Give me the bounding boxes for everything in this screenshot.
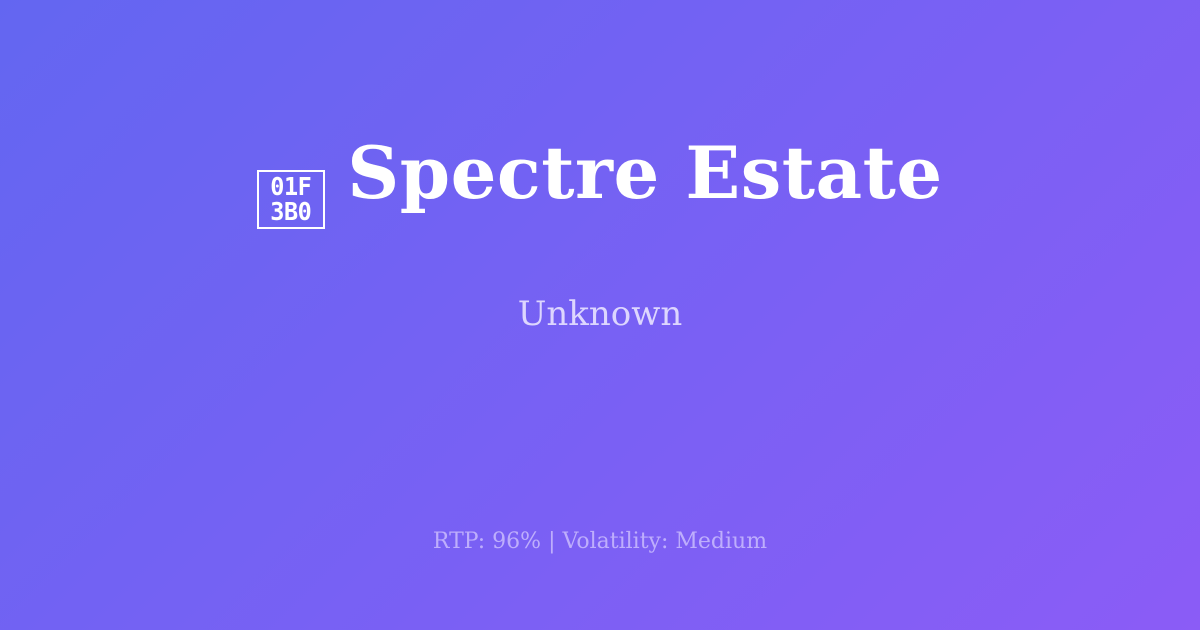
hero-block: 01F 3B0 Spectre Estate Unknown (0, 0, 1200, 470)
tofu-codepoint-line-1: 01F (271, 174, 312, 199)
slot-machine-icon: 01F 3B0 (257, 170, 325, 229)
tofu-codepoint-line-2: 3B0 (271, 199, 312, 224)
og-share-card: 01F 3B0 Spectre Estate Unknown RTP: 96% … (0, 0, 1200, 630)
game-stats-meta: RTP: 96% | Volatility: Medium (433, 528, 767, 556)
footer-block: RTP: 96% | Volatility: Medium (0, 528, 1200, 556)
page-title: Spectre Estate (347, 135, 942, 211)
page-subtitle: Unknown (518, 294, 683, 335)
title-row: 01F 3B0 Spectre Estate (257, 135, 942, 232)
